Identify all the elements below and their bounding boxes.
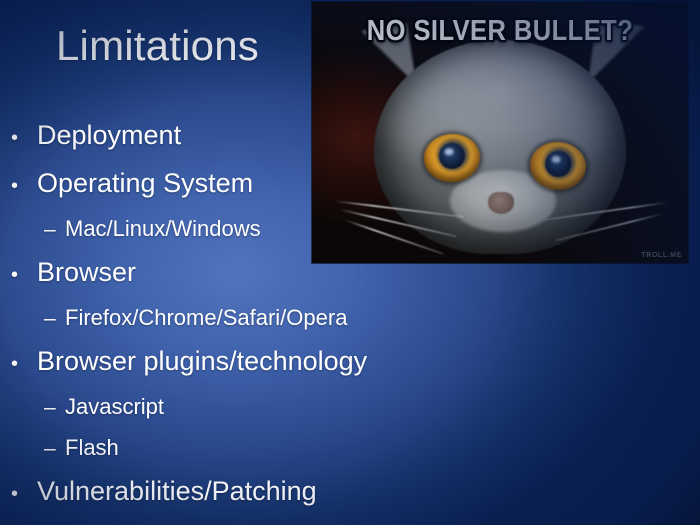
slide-title: Limitations	[56, 21, 259, 71]
bullet-marker: •	[11, 253, 37, 298]
image-watermark: TROLL.ME	[641, 252, 682, 259]
bullet-text: Vulnerabilities/Patching	[37, 469, 317, 514]
bullet-marker: –	[44, 299, 65, 339]
bullet-item: – Flash	[0, 428, 470, 469]
bullet-item: • Operating System	[0, 161, 470, 209]
meme-caption: NO SILVER BULLET?	[335, 16, 666, 46]
bullet-marker: –	[44, 388, 65, 428]
presentation-slide: Limitations NO SILVER BULLET? TROLL.ME •…	[0, 0, 700, 525]
bullet-item: – Mac/Linux/Windows	[0, 209, 470, 250]
bullet-marker: –	[44, 429, 65, 469]
bullet-item: • Browser	[0, 250, 470, 298]
bullet-text: Firefox/Chrome/Safari/Opera	[65, 298, 347, 338]
bullet-text: Browser	[37, 250, 136, 295]
cat-pupil-right	[544, 150, 572, 178]
bullet-marker: –	[44, 210, 65, 250]
bullet-text: Mac/Linux/Windows	[65, 209, 261, 249]
bullet-item: • Browser plugins/technology	[0, 339, 470, 387]
bullet-item: • Deployment	[0, 113, 470, 161]
bullet-text: Operating System	[37, 161, 253, 206]
bullet-marker: •	[11, 116, 37, 161]
bullet-item: – Firefox/Chrome/Safari/Opera	[0, 298, 470, 339]
bullet-item: • Vulnerabilities/Patching	[0, 469, 470, 517]
bullet-text: Flash	[65, 428, 119, 468]
slide-body-placeholder[interactable]: • Deployment • Operating System – Mac/Li…	[0, 113, 470, 517]
bullet-text: Javascript	[65, 387, 164, 427]
bullet-marker: •	[11, 342, 37, 387]
cat-nose	[488, 192, 514, 214]
bullet-text: Browser plugins/technology	[37, 339, 367, 384]
bullet-marker: •	[11, 164, 37, 209]
bullet-text: Deployment	[37, 113, 181, 158]
bullet-marker: •	[11, 472, 37, 517]
bullet-item: – Javascript	[0, 387, 470, 428]
